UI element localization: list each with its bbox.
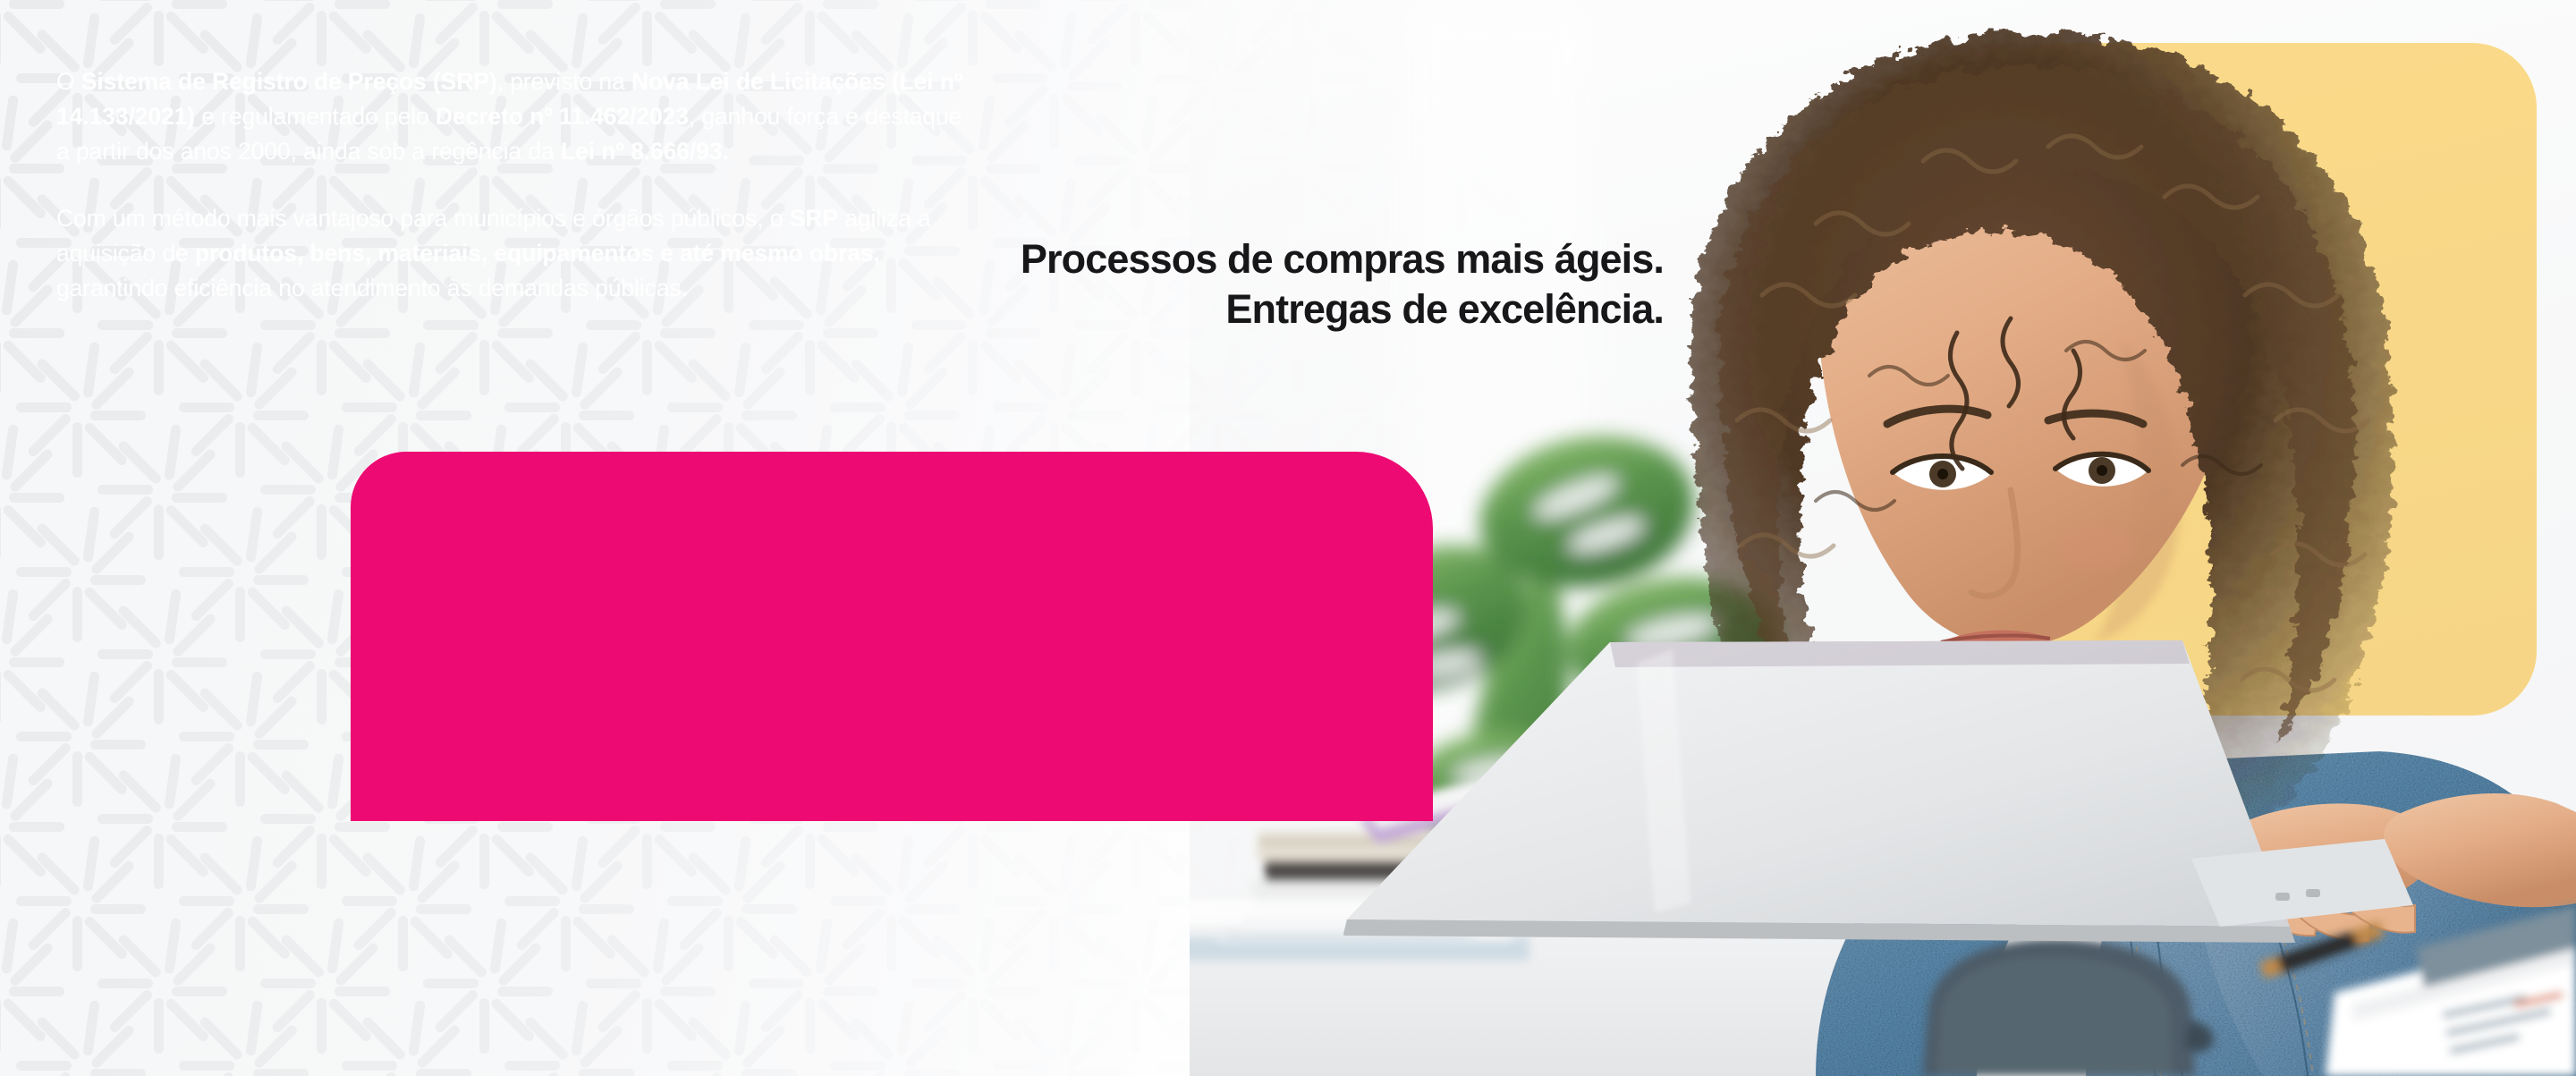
- panel-p1-seg-5: Decreto nº 11.462/2023: [436, 103, 689, 130]
- panel-p1-seg-4: e regulamentado pelo: [195, 103, 436, 130]
- panel-p2-seg-4: garantindo eficiência no atendimento às …: [56, 275, 688, 301]
- panel-paragraph-2: Com um método mais vantajoso para municí…: [56, 201, 969, 306]
- panel-p1-seg-7: Lei nº 8.666/93.: [561, 138, 729, 165]
- panel-paragraph-1: O Sistema de Registro de Preços (SRP), p…: [56, 64, 969, 169]
- panel-p2-seg-3: produtos, bens, materiais, equipamentos …: [195, 240, 880, 267]
- hero-banner: O Sistema de Registro de Preços (SRP), p…: [0, 0, 2576, 1076]
- info-panel-text: O Sistema de Registro de Preços (SRP), p…: [56, 64, 969, 306]
- panel-p1-seg-1: Sistema de Registro de Preços (SRP): [81, 68, 497, 95]
- info-panel: [351, 452, 1433, 821]
- panel-p2-seg-1: SRP: [790, 205, 838, 232]
- panel-p1-seg-0: O: [56, 68, 81, 95]
- panel-p1-seg-2: , previsto na: [497, 68, 631, 95]
- panel-p2-seg-0: Com um método mais vantajoso para municí…: [56, 205, 790, 232]
